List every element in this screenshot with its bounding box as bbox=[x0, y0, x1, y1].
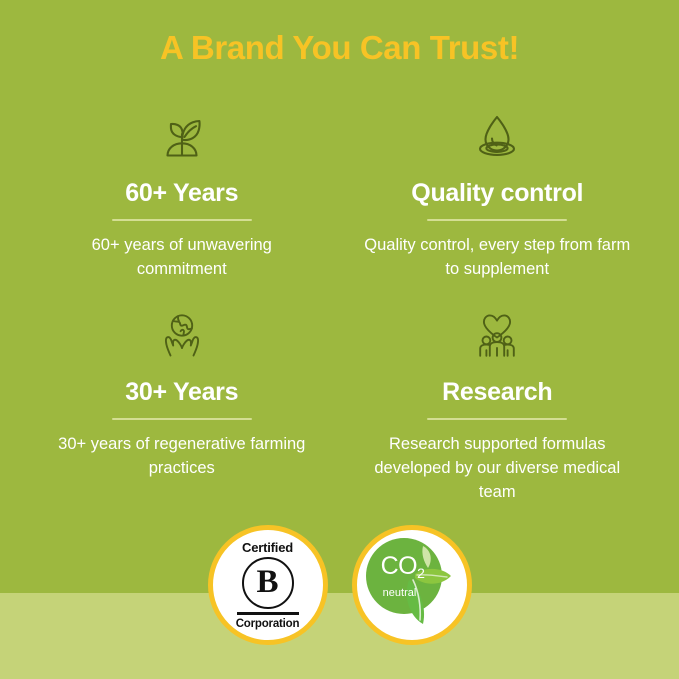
feature-heading: 30+ Years bbox=[125, 377, 238, 407]
co2-main-text: CO2 bbox=[381, 553, 425, 586]
co2-subscript: 2 bbox=[417, 565, 424, 581]
feature-card-years-30: 30+ Years 30+ years of regenerative farm… bbox=[24, 303, 340, 504]
co2-label: CO bbox=[381, 552, 418, 580]
bcorp-content: Certified B Corporation bbox=[213, 530, 323, 640]
feature-heading: Research bbox=[442, 377, 552, 407]
bcorp-b-letter: B bbox=[242, 557, 294, 609]
feature-body: 30+ years of regenerative farming practi… bbox=[47, 432, 317, 480]
bcorp-rule bbox=[237, 612, 299, 615]
certification-badges: Certified B Corporation CO2 neutral bbox=[0, 525, 679, 645]
bcorp-corporation-label: Corporation bbox=[236, 618, 300, 630]
co2-neutral-label: neutral bbox=[383, 587, 417, 599]
certified-b-corporation-badge: Certified B Corporation bbox=[208, 525, 328, 645]
feature-divider bbox=[112, 219, 252, 221]
promo-poster: A Brand You Can Trust! 60+ Years 60+ yea… bbox=[0, 0, 679, 679]
feature-divider bbox=[427, 219, 567, 221]
bcorp-certified-label: Certified bbox=[242, 541, 293, 555]
people-heart-icon bbox=[468, 303, 526, 365]
feature-divider bbox=[112, 418, 252, 420]
feature-body: Quality control, every step from farm to… bbox=[362, 233, 632, 281]
water-droplet-ripple-icon bbox=[468, 104, 526, 166]
hands-holding-globe-icon bbox=[153, 303, 211, 365]
sprout-seedling-icon bbox=[153, 104, 211, 166]
feature-heading: Quality control bbox=[411, 178, 583, 208]
co2-content: CO2 neutral bbox=[357, 530, 467, 640]
feature-card-research: Research Research supported formulas dev… bbox=[340, 303, 656, 504]
feature-card-years-60: 60+ Years 60+ years of unwavering commit… bbox=[24, 104, 340, 281]
feature-grid: 60+ Years 60+ years of unwavering commit… bbox=[24, 104, 655, 504]
feature-divider bbox=[427, 418, 567, 420]
feature-card-quality-control: Quality control Quality control, every s… bbox=[340, 104, 656, 281]
co2-neutral-badge: CO2 neutral bbox=[352, 525, 472, 645]
page-title: A Brand You Can Trust! bbox=[0, 27, 679, 69]
feature-body: Research supported formulas developed by… bbox=[362, 432, 632, 504]
co2-text-block: CO2 neutral bbox=[366, 538, 442, 614]
feature-body: 60+ years of unwavering commitment bbox=[47, 233, 317, 281]
feature-heading: 60+ Years bbox=[125, 178, 238, 208]
